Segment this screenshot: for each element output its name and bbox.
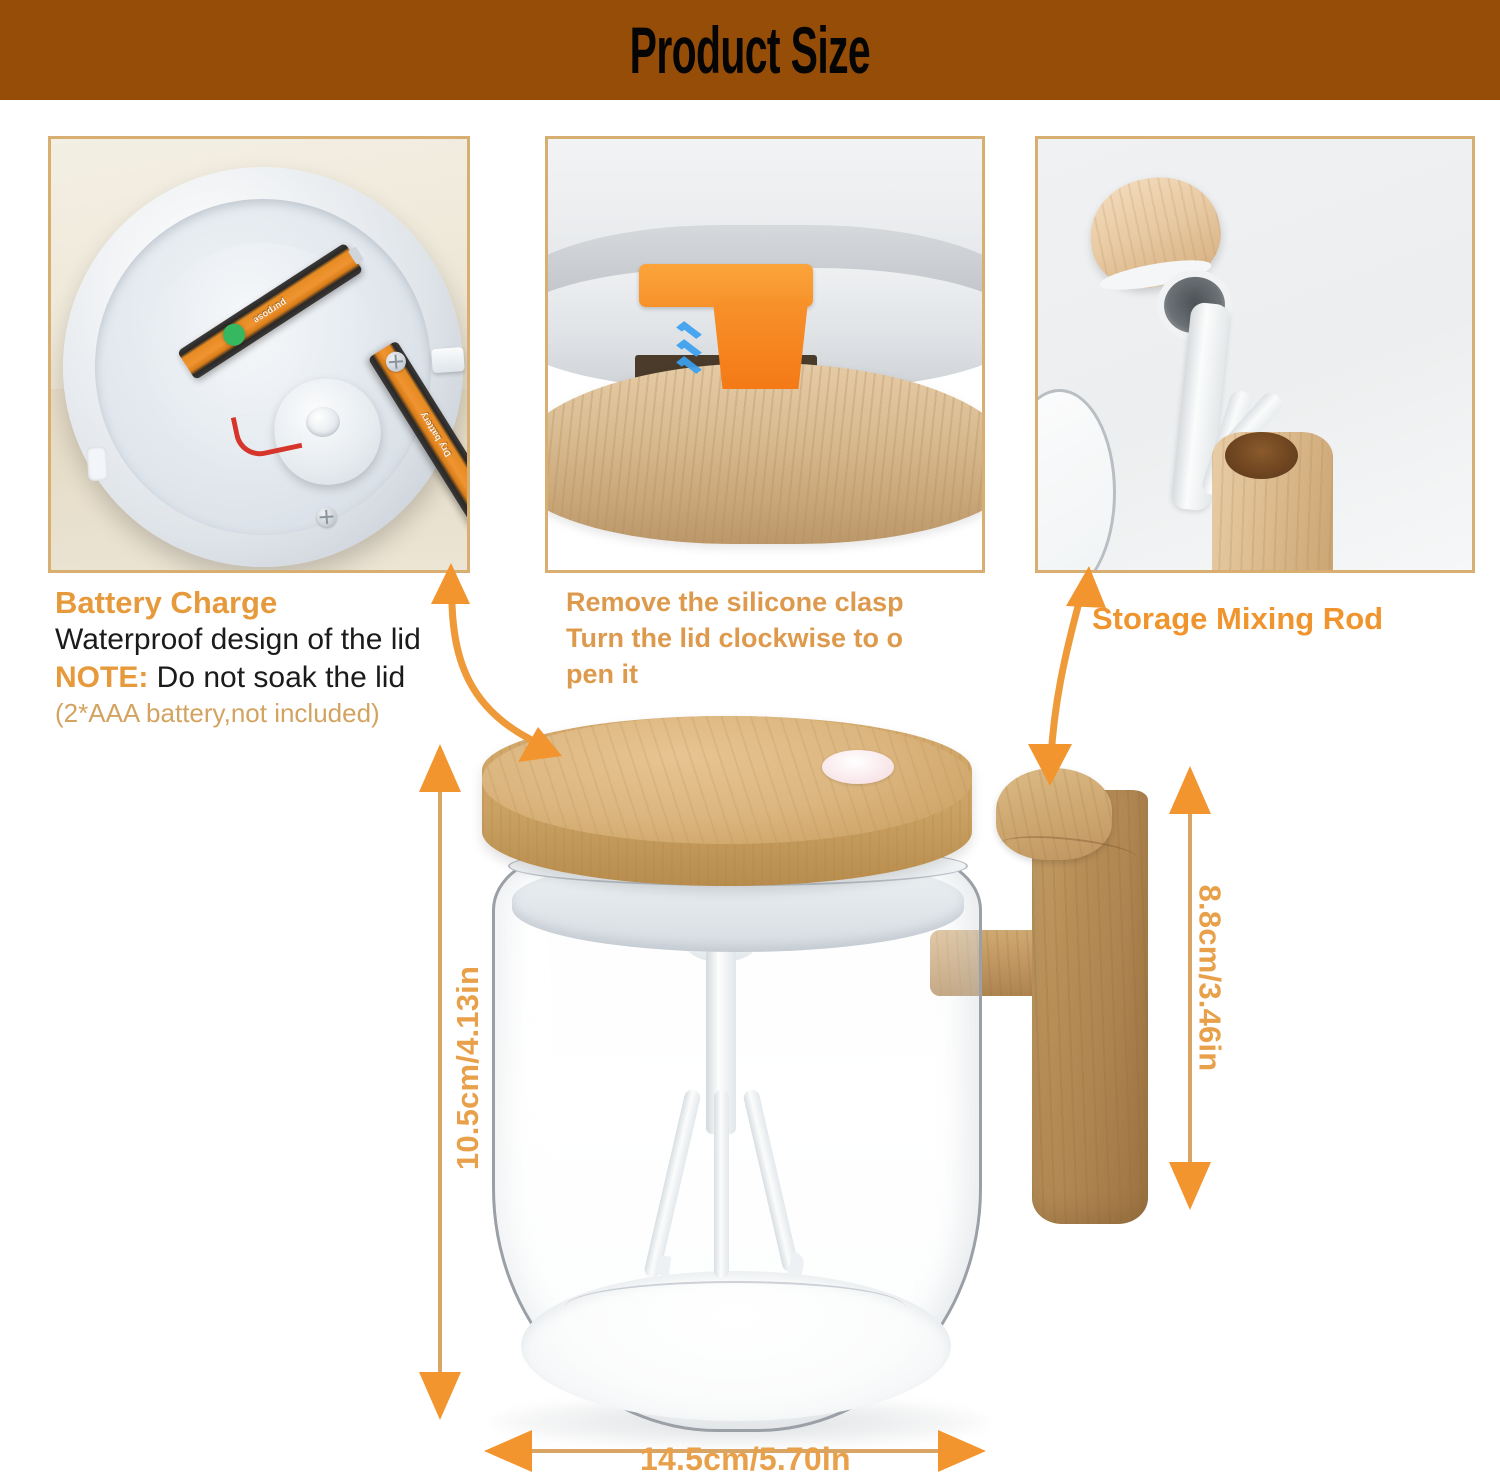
lid-power-button[interactable]	[822, 750, 894, 784]
dimension-label-height: 10.5cm/4.13in	[450, 966, 486, 1170]
glass-base-edge	[565, 1281, 905, 1333]
dimension-label-width: 14.5cm/5.70in	[640, 1441, 851, 1478]
product-illustration	[0, 0, 1500, 1481]
whisk-leg	[714, 1090, 729, 1278]
bamboo-lid-top	[482, 716, 972, 844]
glass-highlight	[521, 895, 555, 1295]
dimension-label-handle-height: 8.8cm/3.46in	[1191, 885, 1227, 1072]
